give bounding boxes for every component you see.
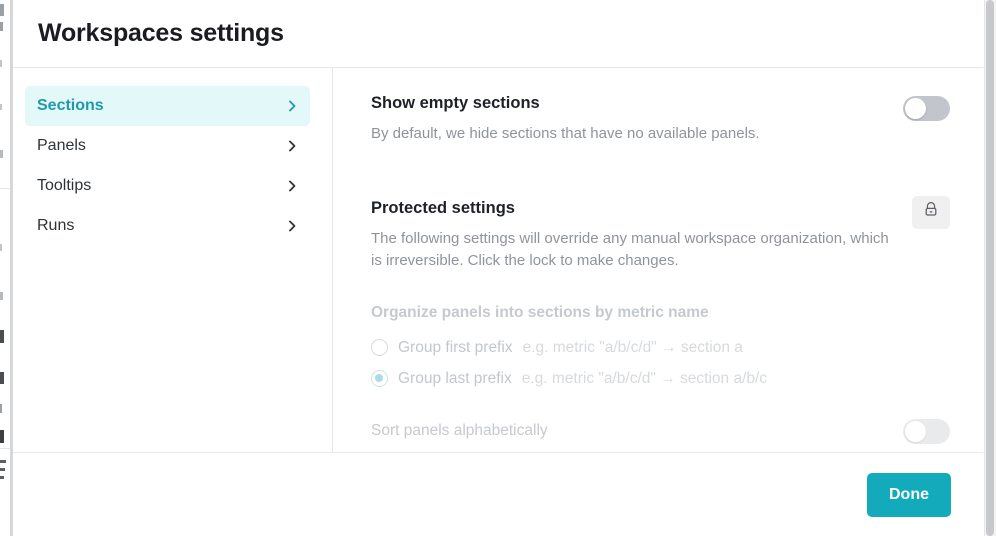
radio-hint: e.g. metric "a/b/c/d" → section a/b/c <box>522 370 767 388</box>
toggle-knob <box>905 421 926 442</box>
chevron-right-icon <box>285 179 299 193</box>
sort-panels-row: Sort panels alphabetically <box>371 417 950 444</box>
sidebar-item-sections[interactable]: Sections <box>25 86 310 126</box>
radio-hint: e.g. metric "a/b/c/d" → section a <box>523 339 743 357</box>
modal-body: Sections Panels <box>13 68 983 452</box>
sidebar-item-label: Tooltips <box>37 177 91 195</box>
scrollbar-thumb[interactable] <box>986 0 994 536</box>
sidebar-item-label: Sections <box>37 97 104 115</box>
background-page-sliver <box>0 0 13 536</box>
sidebar-item-label: Runs <box>37 217 74 235</box>
organize-panels-group: Organize panels into sections by metric … <box>371 304 950 444</box>
sort-panels-toggle[interactable] <box>903 419 950 444</box>
radio-row-group-first-prefix[interactable]: Group first prefix e.g. metric "a/b/c/d"… <box>371 332 950 363</box>
chevron-right-icon <box>285 219 299 233</box>
show-empty-sections-toggle[interactable] <box>903 96 950 121</box>
settings-content: Show empty sections By default, we hide … <box>333 68 983 452</box>
show-empty-sections-row: Show empty sections By default, we hide … <box>371 94 950 145</box>
toggle-knob <box>905 98 926 119</box>
protected-settings-block: Protected settings The following setting… <box>371 199 950 445</box>
sidebar-item-tooltips[interactable]: Tooltips <box>25 166 310 206</box>
lock-closed-icon <box>923 201 939 223</box>
protected-settings-row: Protected settings The following setting… <box>371 199 950 272</box>
radio-row-group-last-prefix[interactable]: Group last prefix e.g. metric "a/b/c/d" … <box>371 363 950 394</box>
lock-button[interactable] <box>912 196 950 229</box>
radio-icon <box>371 339 388 356</box>
done-button[interactable]: Done <box>867 473 951 517</box>
sort-panels-label: Sort panels alphabetically <box>371 422 548 440</box>
show-empty-sections-title: Show empty sections <box>371 94 760 113</box>
modal-footer: Done <box>13 452 983 536</box>
sidebar-item-panels[interactable]: Panels <box>25 126 310 166</box>
screen: Workspaces settings Sections Panels <box>0 0 996 536</box>
chevron-right-icon <box>285 139 299 153</box>
modal-header: Workspaces settings <box>13 0 983 68</box>
protected-settings-title: Protected settings <box>371 199 891 218</box>
sidebar-item-label: Panels <box>37 137 86 155</box>
sidebar-item-runs[interactable]: Runs <box>25 206 310 246</box>
protected-settings-description: The following settings will override any… <box>371 228 891 272</box>
settings-sidebar: Sections Panels <box>13 68 333 452</box>
page-scrollbar[interactable] <box>984 0 996 536</box>
organize-panels-label: Organize panels into sections by metric … <box>371 304 950 322</box>
radio-label: Group first prefix <box>398 339 513 357</box>
show-empty-sections-description: By default, we hide sections that have n… <box>371 123 760 145</box>
workspaces-settings-modal: Workspaces settings Sections Panels <box>13 0 983 536</box>
page-title: Workspaces settings <box>38 19 284 48</box>
chevron-right-icon <box>285 99 299 113</box>
radio-label: Group last prefix <box>398 370 512 388</box>
radio-icon-selected <box>371 370 388 387</box>
